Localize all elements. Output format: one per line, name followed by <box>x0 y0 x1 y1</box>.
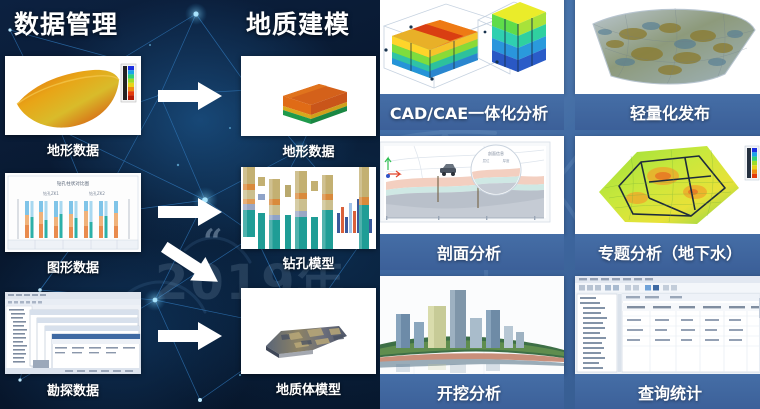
query-statistics-table-icon <box>575 276 760 374</box>
label-cross-section-analysis: 剖面分析 <box>437 240 501 264</box>
label-excavation-analysis: 开挖分析 <box>437 380 501 404</box>
analysis-grid-panel: CAD/CAE一体化分析 <box>380 0 760 409</box>
section-title-geological-modeling: 地质建模 <box>246 5 350 41</box>
cell-cad-cae-analysis[interactable]: CAD/CAE一体化分析 <box>380 0 564 132</box>
band-cad-cae-analysis: CAD/CAE一体化分析 <box>380 94 564 130</box>
card-geobody-model[interactable] <box>241 288 376 374</box>
thumb-cad-cae <box>380 0 564 94</box>
svg-text:厚度: 厚度 <box>503 158 510 163</box>
card-terrain-model[interactable] <box>241 56 376 136</box>
band-lightweight-publishing: 轻量化发布 <box>575 94 760 130</box>
geobody-3d-solid-icon <box>241 288 376 374</box>
lightweight-terrain-mesh-icon <box>575 0 760 94</box>
database-table-windows-icon <box>5 292 141 374</box>
arrow-exploration-icon <box>158 322 222 350</box>
groundwater-thematic-map-icon <box>575 136 760 234</box>
cell-query-statistics[interactable]: 查询统计 <box>575 276 760 409</box>
label-thematic-groundwater-analysis: 专题分析（地下水） <box>598 240 742 264</box>
caption-terrain-model: 地形数据 <box>241 141 376 160</box>
card-borehole-model[interactable] <box>241 167 376 249</box>
section-title-data-management: 数据管理 <box>14 5 118 41</box>
cell-cross-section-analysis[interactable]: 剖面信息 层位 厚度 <box>380 136 564 272</box>
caption-graphics-data: 图形数据 <box>5 257 141 276</box>
caption-terrain-data-source: 地形数据 <box>5 140 141 159</box>
thumb-excavation <box>380 276 564 374</box>
cell-lightweight-publishing[interactable]: 轻量化发布 <box>575 0 760 132</box>
poster-canvas: 2019年 “ 数据管理 地质建模 <box>0 0 760 409</box>
thumb-cross-section: 剖面信息 层位 厚度 <box>380 136 564 234</box>
caption-borehole-model: 钻孔模型 <box>241 253 376 272</box>
borehole-log-chart-icon: 钻孔柱状对比图 钻孔ZK1 钻孔ZK2 <box>5 173 141 252</box>
svg-text:层位: 层位 <box>483 158 490 163</box>
cell-thematic-groundwater-analysis[interactable]: 专题分析（地下水） <box>575 136 760 272</box>
label-cad-cae-analysis: CAD/CAE一体化分析 <box>390 100 548 124</box>
arrow-graphics-icon <box>158 198 222 226</box>
band-query-statistics: 查询统计 <box>575 374 760 409</box>
card-graphics-data[interactable]: 钻孔柱状对比图 钻孔ZK1 钻孔ZK2 <box>5 173 141 252</box>
borehole-3d-columns-icon <box>241 167 376 249</box>
caption-geobody-model: 地质体模型 <box>241 379 376 398</box>
cross-section-profile-icon: 剖面信息 层位 厚度 <box>380 136 564 234</box>
band-excavation-analysis: 开挖分析 <box>380 374 564 409</box>
thumb-query-statistics <box>575 276 760 374</box>
label-lightweight-publishing: 轻量化发布 <box>630 100 710 124</box>
svg-text:钻孔ZK2: 钻孔ZK2 <box>89 190 105 196</box>
card-terrain-data-source[interactable] <box>5 56 141 135</box>
label-query-statistics: 查询统计 <box>638 380 702 404</box>
thumb-lightweight <box>575 0 760 94</box>
arrow-terrain-icon <box>158 82 222 110</box>
band-thematic-groundwater-analysis: 专题分析（地下水） <box>575 234 760 270</box>
terrain-3d-block-icon <box>241 56 376 136</box>
cell-excavation-analysis[interactable]: 开挖分析 <box>380 276 564 409</box>
arrow-graphics-to-geobody-icon <box>156 240 224 292</box>
caption-exploration-data: 勘探数据 <box>5 380 141 399</box>
svg-text:钻孔柱状对比图: 钻孔柱状对比图 <box>57 180 90 187</box>
thumb-groundwater <box>575 136 760 234</box>
data-management-panel: 2019年 “ 数据管理 地质建模 <box>0 0 380 409</box>
band-cross-section-analysis: 剖面分析 <box>380 234 564 270</box>
terrain-surface-colormap-icon <box>5 56 141 135</box>
card-exploration-data[interactable] <box>5 292 141 374</box>
svg-text:剖面信息: 剖面信息 <box>488 150 504 156</box>
cae-mesh-cubes-icon <box>380 0 564 94</box>
excavation-city-model-icon <box>380 276 564 374</box>
svg-text:钻孔ZK1: 钻孔ZK1 <box>43 190 59 196</box>
